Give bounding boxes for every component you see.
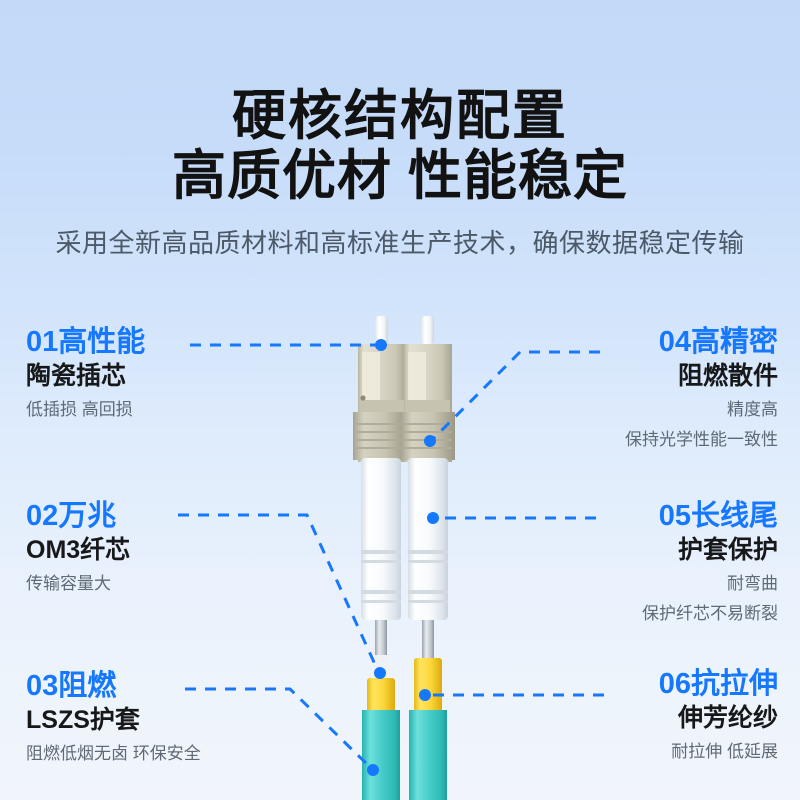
feature-06-number: 06抗拉伸 [478, 668, 778, 700]
callout-dot-05 [427, 512, 439, 524]
feature-block-02: 02万兆 OM3纤芯 传输容量大 [26, 500, 326, 597]
feature-05-number: 05长线尾 [478, 500, 778, 532]
header: 硬核结构配置 高质优材 性能稳定 采用全新高品质材料和高标准生产技术，确保数据稳… [0, 0, 800, 260]
feature-04-number: 04高精密 [478, 326, 778, 358]
page-title-line-2: 高质优材 性能稳定 [0, 146, 800, 206]
feature-01-subtitle: 陶瓷插芯 [26, 360, 326, 393]
feature-04-subtitle: 阻燃散件 [478, 360, 778, 393]
callout-dot-06 [419, 689, 431, 701]
feature-01-desc-1: 低插损 高回损 [26, 398, 326, 423]
feature-03-subtitle: LSZS护套 [26, 704, 326, 737]
feature-03-number: 03阻燃 [26, 670, 326, 702]
feature-01-number: 01高性能 [26, 326, 326, 358]
callout-dot-03 [367, 764, 379, 776]
feature-02-subtitle: OM3纤芯 [26, 534, 326, 567]
feature-06-subtitle: 伸芳纶纱 [478, 702, 778, 735]
feature-05-desc-1: 耐弯曲 [478, 572, 778, 597]
callout-dot-04 [424, 435, 436, 447]
feature-block-03: 03阻燃 LSZS护套 阻燃低烟无卤 环保安全 [26, 670, 326, 767]
feature-block-04: 04高精密 阻燃散件 精度高 保持光学性能一致性 [478, 326, 778, 452]
feature-02-desc-1: 传输容量大 [26, 572, 326, 597]
page-subtitle: 采用全新高品质材料和高标准生产技术，确保数据稳定传输 [0, 223, 800, 260]
feature-block-05: 05长线尾 护套保护 耐弯曲 保护纤芯不易断裂 [478, 500, 778, 626]
feature-04-desc-2: 保持光学性能一致性 [478, 428, 778, 453]
callout-dot-02 [374, 667, 386, 679]
feature-04-desc-1: 精度高 [478, 398, 778, 423]
feature-06-desc-1: 耐拉伸 低延展 [478, 740, 778, 765]
feature-02-number: 02万兆 [26, 500, 326, 532]
feature-05-desc-2: 保护纤芯不易断裂 [478, 602, 778, 627]
callout-dot-01 [375, 339, 387, 351]
feature-05-subtitle: 护套保护 [478, 534, 778, 567]
page-title-line-1: 硬核结构配置 [0, 86, 800, 146]
feature-block-06: 06抗拉伸 伸芳纶纱 耐拉伸 低延展 [478, 668, 778, 765]
feature-03-desc-1: 阻燃低烟无卤 环保安全 [26, 742, 326, 767]
feature-block-01: 01高性能 陶瓷插芯 低插损 高回损 [26, 326, 326, 423]
